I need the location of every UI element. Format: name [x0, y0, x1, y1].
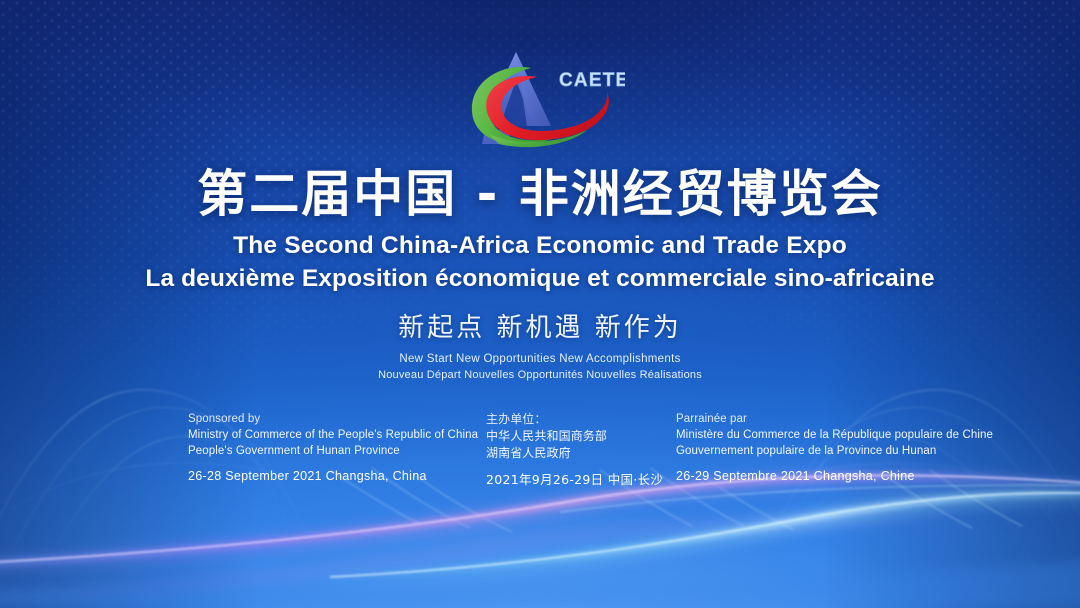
sponsor-org2-english: People's Government of Hunan Province	[188, 443, 456, 459]
slogan-english: New Start New Opportunities New Accompli…	[0, 353, 1080, 365]
sponsor-date-chinese: 2021年9月26-29日 中国·长沙	[486, 471, 646, 488]
expo-poster: CAETE 第二届中国 - 非洲经贸博览会 The Second China-A…	[0, 0, 1080, 608]
slogan-chinese: 新起点 新机遇 新作为	[0, 307, 1080, 344]
caete-logo: CAETE	[455, 34, 625, 150]
sponsor-column-english: Sponsored by Ministry of Commerce of the…	[188, 411, 470, 488]
sponsor-heading-french: Parrainée par	[676, 411, 993, 427]
title-chinese: 第二届中国 - 非洲经贸博览会	[0, 168, 1080, 221]
sponsor-org2-chinese: 湖南省人民政府	[486, 445, 646, 462]
sponsor-org1-english: Ministry of Commerce of the People's Rep…	[188, 427, 456, 443]
title-french: La deuxième Exposition économique et com…	[0, 265, 1080, 293]
sponsor-date-french: 26-29 Septembre 2021 Changsha, Chine	[676, 468, 993, 484]
logo-container: CAETE	[0, 34, 1080, 150]
sponsors-block: Sponsored by Ministry of Commerce of the…	[188, 411, 918, 488]
sponsor-heading-english: Sponsored by	[188, 411, 456, 427]
slogan-french: Nouveau Départ Nouvelles Opportunités No…	[0, 369, 1080, 381]
logo-wordmark: CAETE	[559, 70, 625, 91]
slogan-block: 新起点 新机遇 新作为 New Start New Opportunities …	[0, 307, 1080, 381]
sponsor-heading-chinese: 主办单位：	[486, 411, 646, 428]
headings-block: 第二届中国 - 非洲经贸博览会 The Second China-Africa …	[0, 168, 1080, 293]
sponsor-date-english: 26-28 September 2021 Changsha, China	[188, 468, 456, 484]
sponsor-column-french: Parrainée par Ministère du Commerce de l…	[660, 411, 993, 488]
sponsor-org1-chinese: 中华人民共和国商务部	[486, 428, 646, 445]
title-english: The Second China-Africa Economic and Tra…	[0, 232, 1080, 260]
sponsor-column-chinese: 主办单位： 中华人民共和国商务部 湖南省人民政府 2021年9月26-29日 中…	[470, 411, 660, 488]
sponsor-org1-french: Ministère du Commerce de la République p…	[676, 427, 993, 443]
sponsor-org2-french: Gouvernement populaire de la Province du…	[676, 443, 993, 459]
